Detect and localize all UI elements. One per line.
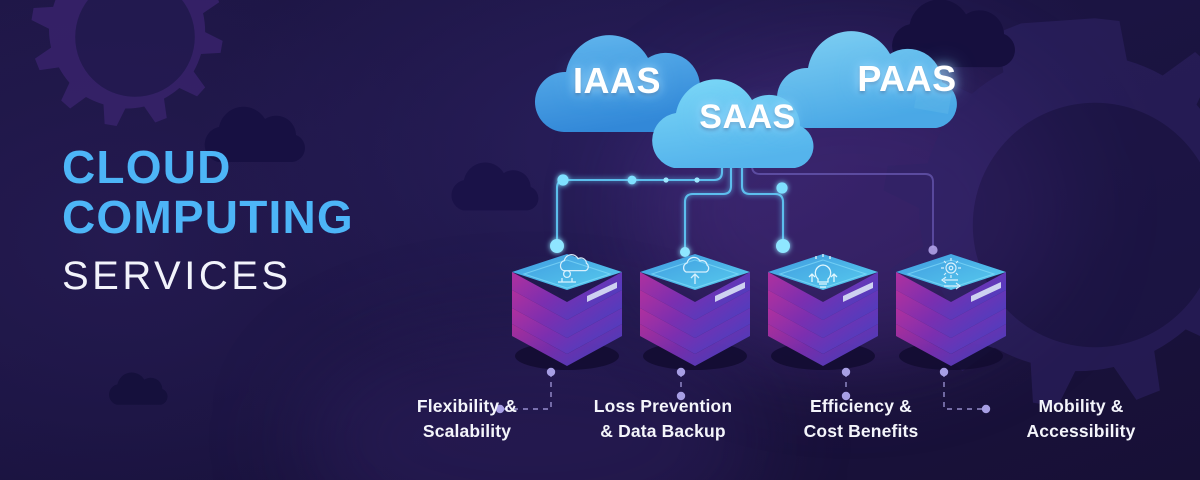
benefit-3-line-1: Efficiency & (756, 394, 966, 419)
benefit-1-line-1: Flexibility & (362, 394, 572, 419)
benefit-1-line-2: Scalability (362, 419, 572, 444)
benefit-2-line-1: Loss Prevention (558, 394, 768, 419)
benefit-caption-1: Flexibility & Scalability (362, 394, 572, 444)
benefit-caption-2: Loss Prevention & Data Backup (558, 394, 768, 444)
benefit-3-line-2: Cost Benefits (756, 419, 966, 444)
benefit-2-line-2: & Data Backup (558, 419, 768, 444)
benefit-4-line-2: Accessibility (976, 419, 1186, 444)
benefit-4-line-1: Mobility & (976, 394, 1186, 419)
benefit-caption-3: Efficiency & Cost Benefits (756, 394, 966, 444)
benefit-caption-4: Mobility & Accessibility (976, 394, 1186, 444)
infographic-canvas: CLOUD COMPUTING SERVICES (0, 0, 1200, 480)
